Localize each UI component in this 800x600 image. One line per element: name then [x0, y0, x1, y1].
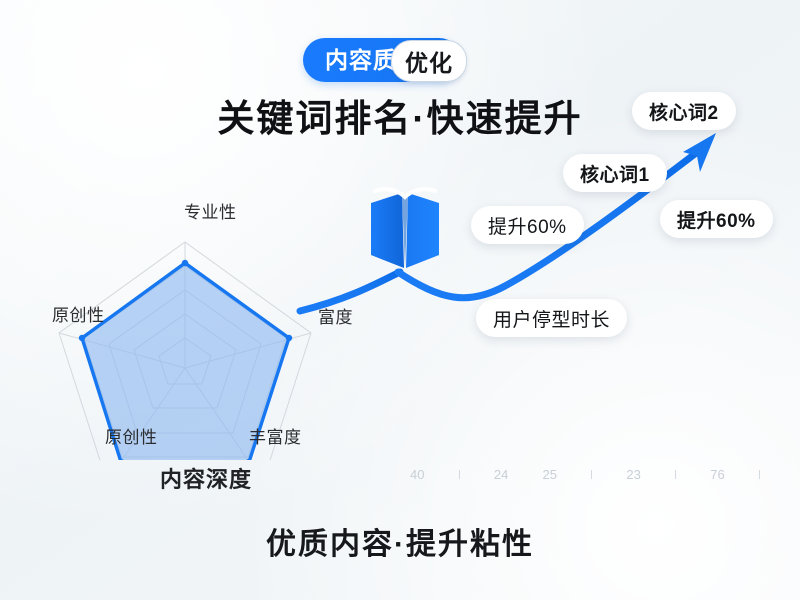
infographic-canvas: 内容质量 优化 关键词排名·快速提升: [0, 0, 800, 600]
axis-value-0: 40: [410, 467, 424, 482]
axis-tick: [759, 470, 760, 479]
open-book-icon: [365, 185, 445, 280]
axis-tick: [591, 470, 592, 479]
radar-label-top: 专业性: [184, 198, 237, 223]
arrow-head-icon: [683, 133, 716, 172]
axis-value-1: 24: [494, 467, 508, 482]
pill-keyword-1[interactable]: 核心词1: [563, 154, 667, 192]
radar-label-right: 富度: [318, 303, 353, 328]
axis-value-2: 25: [543, 467, 557, 482]
radar-label-bottom-left: 原创性: [105, 423, 158, 448]
bottom-caption: 优质内容·提升粘性: [0, 519, 800, 563]
radar-label-left: 原创性: [52, 301, 105, 326]
axis-value-3: 23: [626, 467, 640, 482]
radar-label-bottom-right: 丰富度: [249, 423, 302, 448]
faint-axis-strip: 40 24 25 23 76: [410, 462, 760, 486]
axis-tick: [675, 470, 676, 479]
axis-value-4: 76: [710, 467, 724, 482]
pill-lift-right[interactable]: 提升60%: [660, 200, 773, 238]
pill-keyword-2[interactable]: 核心词2: [632, 92, 736, 130]
content-depth-label: 内容深度: [160, 462, 252, 494]
axis-tick: [459, 470, 460, 479]
pill-dwell-time[interactable]: 用户停型时长: [476, 299, 627, 337]
pill-lift-left[interactable]: 提升60%: [471, 206, 584, 244]
